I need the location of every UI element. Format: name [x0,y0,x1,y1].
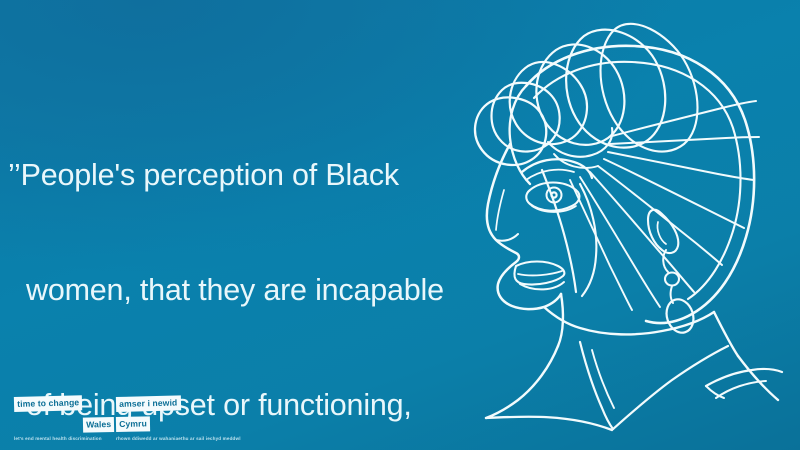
headwrap-fold-5 [598,166,722,265]
eye-pupil [551,192,556,197]
neck-back [714,312,738,356]
mouth-lip-line [518,271,562,275]
quote-line-1: ’’People's perception of Black [8,156,468,194]
logo-cy-line2-row: Cymru [116,414,244,432]
headwrap-knot-loop-2 [492,83,560,152]
garment-fold-right-2 [716,381,766,398]
logo-cy-line1: amser i newid [116,395,181,412]
logo-en-line2-row: Wales [14,414,114,432]
slide-canvas: ’’People's perception of Black women, th… [0,0,800,450]
ear-outline [648,210,678,253]
headwrap-fold-4 [604,159,744,228]
logo-en-line1: time to change [14,395,83,412]
eyebrow-inner [526,170,574,180]
headwrap-fold-6 [590,172,694,292]
nose-nostril [496,234,518,241]
earring-bead [665,273,679,286]
logo-en-line1-row: time to change [14,391,114,412]
garment-point-right [706,386,724,398]
headwrap-outer-contour [526,46,754,323]
shoulder-sweep-bottom [486,417,612,430]
headwrap-inner-contour [534,62,741,299]
logo-en-line2: Wales [82,417,114,433]
nose-bridge-accent [496,190,504,230]
logo-en-tagline: let's end mental health discrimination [14,437,114,442]
headwrap-knot-loop-3 [510,62,587,144]
quote-line-2: women, that they are incapable [8,271,468,309]
garment-fold-right [706,369,782,386]
logo-cy-tagline: rhown ddiwedd ar wahaniaethu ar sail iec… [116,437,244,442]
line-drawing-woman-headwrap-illustration [430,0,800,450]
headwrap-fold-3 [608,152,754,180]
collar-v-left [580,342,613,429]
logo-english: time to change Wales let's end mental he… [14,394,114,441]
collar-v-inner [592,350,614,408]
logo-cy-line2: Cymru [116,416,150,432]
logo-cy-line1-row: amser i newid [116,391,244,412]
collar-v-right [613,346,728,429]
time-to-change-wales-logo[interactable]: time to change Wales let's end mental he… [14,394,244,444]
shoulder-left-line [486,346,558,418]
shoulder-right-line [738,356,778,400]
logo-welsh: amser i newid Cymru rhown ddiwedd ar wah… [116,394,244,441]
ear-inner [657,222,666,244]
